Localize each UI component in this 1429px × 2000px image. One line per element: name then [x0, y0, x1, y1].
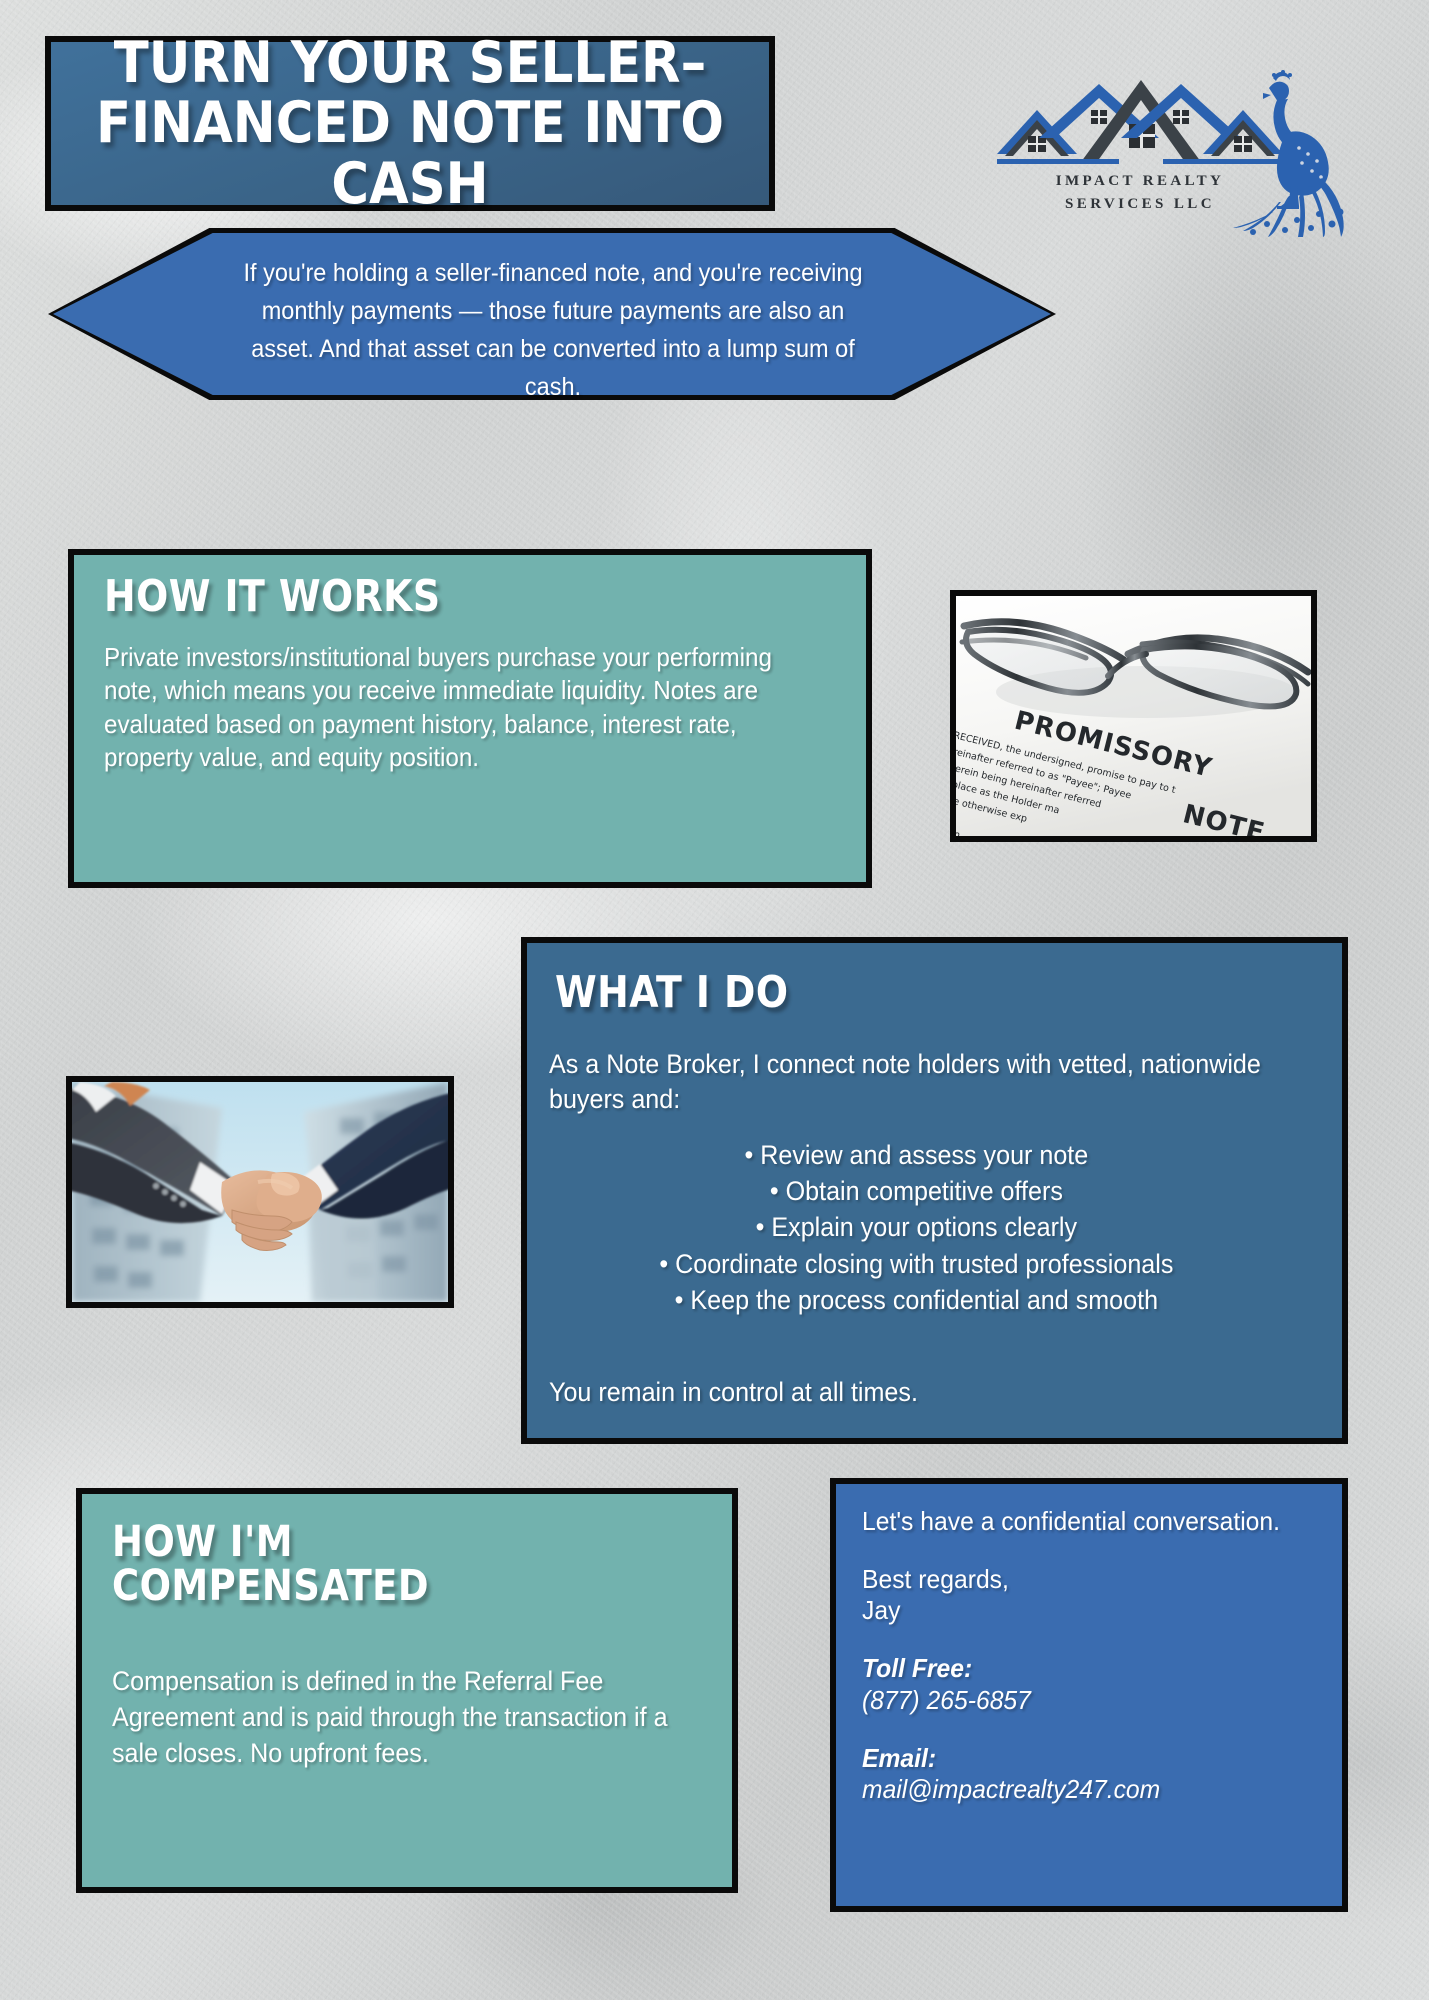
contact-signoff: Best regards, Jay — [862, 1564, 1309, 1627]
signoff-line-1: Best regards, — [862, 1564, 1309, 1596]
contact-invitation: Let's have a confidential conversation. — [862, 1506, 1309, 1538]
compensation-body: Compensation is defined in the Referral … — [112, 1664, 679, 1772]
phone-label: Toll Free: — [862, 1653, 1309, 1685]
compensation-heading: HOW I'M COMPENSATED — [112, 1521, 429, 1609]
handshake-image — [72, 1082, 448, 1302]
contact-email[interactable]: Email: mail@impactrealty247.com — [862, 1743, 1309, 1806]
contact-panel: Let's have a confidential conversation. … — [830, 1478, 1348, 1912]
banner-hexagon: If you're holding a seller-financed note… — [48, 228, 1056, 400]
contact-phone[interactable]: Toll Free: (877) 265-6857 — [862, 1653, 1309, 1716]
bullet-item: Keep the process confidential and smooth — [549, 1282, 1284, 1318]
compensation-panel: HOW I'M COMPENSATED Compensation is defi… — [76, 1488, 738, 1893]
what-i-do-intro: As a Note Broker, I connect note holders… — [549, 1047, 1284, 1116]
how-it-works-panel: HOW IT WORKS Private investors/instituti… — [68, 549, 872, 888]
promissory-note-image: PROMISSORY NOTE RECEIVED, the undersigne… — [956, 596, 1311, 836]
promissory-note-photo: PROMISSORY NOTE RECEIVED, the undersigne… — [950, 590, 1317, 842]
what-i-do-bullet-list: Review and assess your noteObtain compet… — [549, 1137, 1284, 1318]
bullet-list: Review and assess your noteObtain compet… — [549, 1137, 1284, 1318]
page-title: TURN YOUR SELLER– FINANCED NOTE INTO CAS… — [87, 33, 733, 214]
peacock-icon — [1233, 62, 1361, 237]
what-i-do-heading: WHAT I DO — [555, 971, 788, 1016]
banner-text: If you're holding a seller-financed note… — [238, 254, 868, 406]
contact-details: Let's have a confidential conversation. … — [862, 1506, 1309, 1832]
what-i-do-outro: You remain in control at all times. — [549, 1375, 1284, 1410]
email-label: Email: — [862, 1743, 1309, 1775]
bullet-item: Obtain competitive offers — [549, 1173, 1284, 1209]
email-value[interactable]: mail@impactrealty247.com — [862, 1774, 1309, 1806]
title-panel: TURN YOUR SELLER– FINANCED NOTE INTO CAS… — [45, 36, 775, 211]
signoff-line-2: Jay — [862, 1595, 1309, 1627]
what-i-do-panel: WHAT I DO As a Note Broker, I connect no… — [521, 937, 1348, 1444]
how-it-works-heading: HOW IT WORKS — [104, 575, 441, 620]
bullet-item: Review and assess your note — [549, 1137, 1284, 1173]
bullet-item: Coordinate closing with trusted professi… — [549, 1246, 1284, 1282]
bullet-item: Explain your options clearly — [549, 1209, 1284, 1245]
handshake-photo — [66, 1076, 454, 1308]
how-it-works-body: Private investors/institutional buyers p… — [104, 641, 811, 774]
company-logo: IMPACT REALTY SERVICES LLC — [995, 62, 1365, 222]
phone-value[interactable]: (877) 265-6857 — [862, 1685, 1309, 1717]
